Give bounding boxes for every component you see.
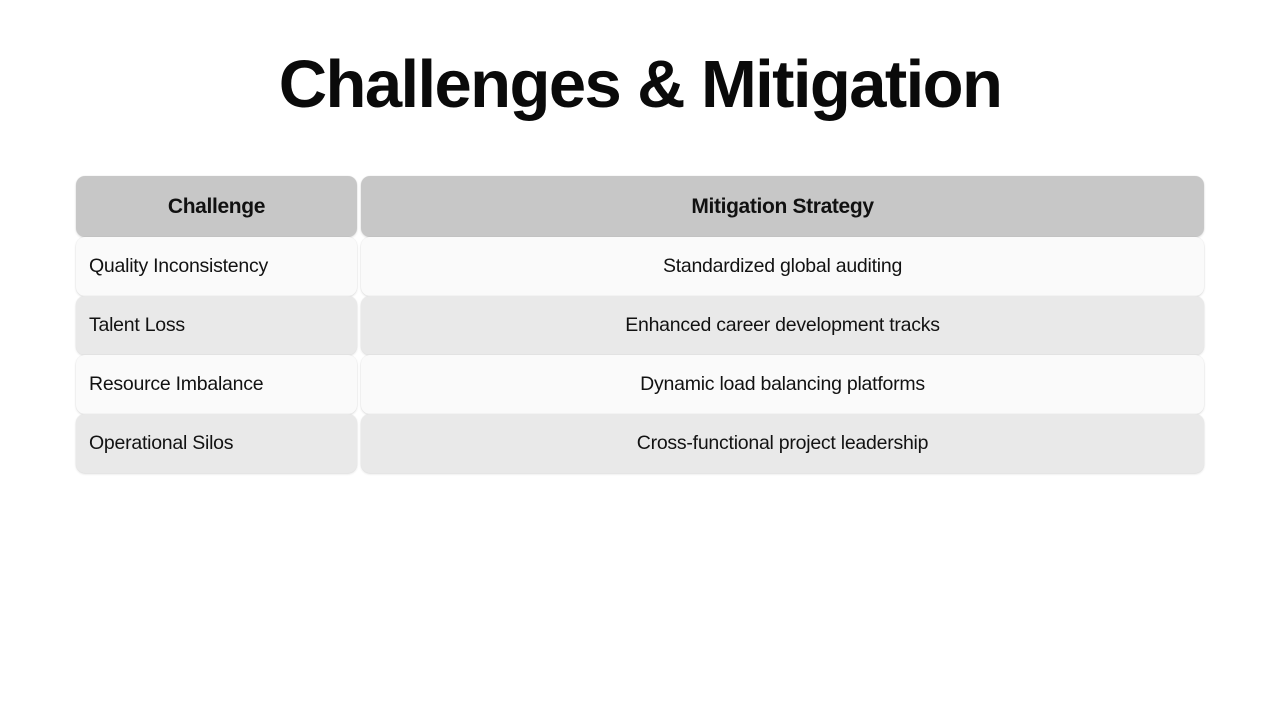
cell-challenge[interactable]: Resource Imbalance bbox=[76, 355, 357, 414]
column-header-mitigation-strategy-label: Mitigation Strategy bbox=[691, 195, 873, 219]
cell-strategy[interactable]: Dynamic load balancing platforms bbox=[361, 355, 1204, 414]
table-row[interactable]: Resource Imbalance Dynamic load balancin… bbox=[76, 355, 1204, 414]
cell-strategy[interactable]: Enhanced career development tracks bbox=[361, 296, 1204, 355]
cell-challenge-label: Quality Inconsistency bbox=[89, 255, 268, 278]
cell-challenge-label: Talent Loss bbox=[89, 314, 185, 337]
slide-canvas: Challenges & Mitigation Challenge Mitiga… bbox=[0, 0, 1280, 720]
cell-challenge[interactable]: Operational Silos bbox=[76, 414, 357, 473]
table-header-row: Challenge Mitigation Strategy bbox=[76, 176, 1204, 237]
cell-strategy-label: Dynamic load balancing platforms bbox=[640, 373, 925, 396]
challenges-mitigation-table: Challenge Mitigation Strategy Quality In… bbox=[76, 176, 1204, 473]
cell-challenge[interactable]: Quality Inconsistency bbox=[76, 237, 357, 296]
cell-strategy-label: Enhanced career development tracks bbox=[625, 314, 940, 337]
page-title: Challenges & Mitigation bbox=[0, 48, 1280, 122]
column-header-mitigation-strategy[interactable]: Mitigation Strategy bbox=[361, 176, 1204, 237]
cell-strategy-label: Cross-functional project leadership bbox=[637, 432, 928, 455]
table-row[interactable]: Quality Inconsistency Standardized globa… bbox=[76, 237, 1204, 296]
column-header-challenge[interactable]: Challenge bbox=[76, 176, 357, 237]
table-row[interactable]: Operational Silos Cross-functional proje… bbox=[76, 414, 1204, 473]
cell-challenge[interactable]: Talent Loss bbox=[76, 296, 357, 355]
cell-challenge-label: Operational Silos bbox=[89, 432, 233, 455]
cell-strategy-label: Standardized global auditing bbox=[663, 255, 902, 278]
cell-strategy[interactable]: Cross-functional project leadership bbox=[361, 414, 1204, 473]
cell-strategy[interactable]: Standardized global auditing bbox=[361, 237, 1204, 296]
column-header-challenge-label: Challenge bbox=[168, 195, 265, 219]
cell-challenge-label: Resource Imbalance bbox=[89, 373, 263, 396]
table-row[interactable]: Talent Loss Enhanced career development … bbox=[76, 296, 1204, 355]
